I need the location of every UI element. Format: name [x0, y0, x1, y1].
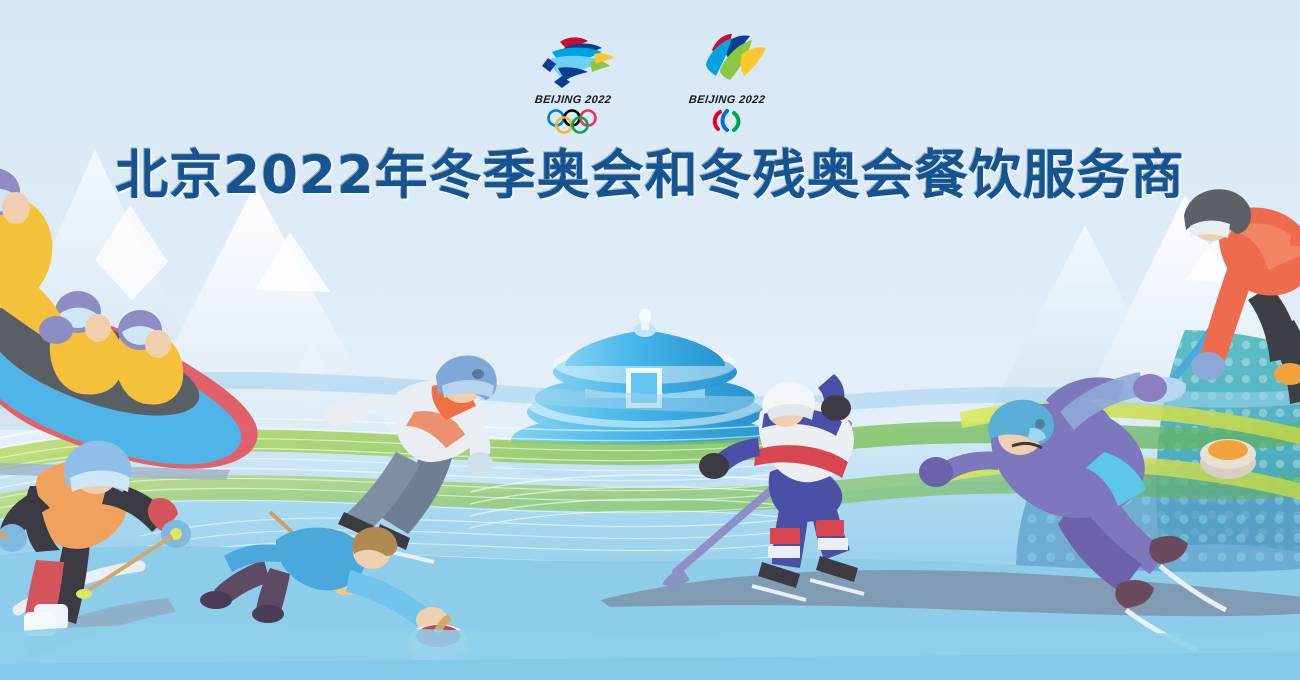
banner-stage: BEIJING 2022	[0, 0, 1300, 680]
scene-artwork	[0, 0, 1300, 680]
